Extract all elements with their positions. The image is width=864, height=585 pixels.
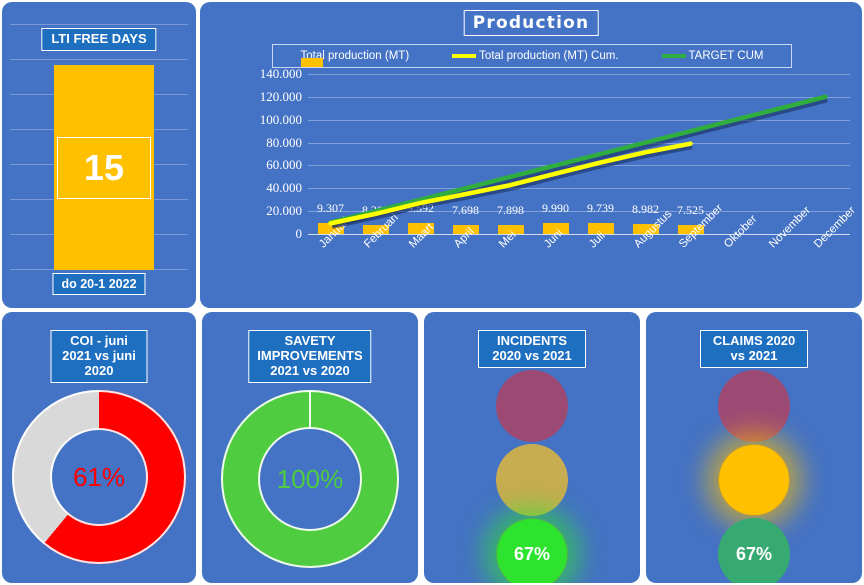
lti-value-box: 15 [57,137,151,199]
lti-date-badge: do 20-1 2022 [52,273,145,295]
legend-swatch-icon [662,54,686,58]
claims-percent: 67% [736,544,772,565]
savety-panel-title: SAVETY IMPROVEMENTS 2021 vs 2020 [248,330,371,383]
target-cum-line [331,97,826,223]
coi-panel-title: COI - juni 2021 vs juni 2020 [51,330,148,383]
claims-panel: CLAIMS 2020 vs 2021 67% [646,312,862,583]
production-title: Production [464,10,599,36]
lti-panel-title: LTI FREE DAYS [41,28,156,51]
lti-value: 15 [84,147,124,189]
gridline [10,24,188,25]
incidents-percent: 67% [514,544,550,565]
legend-swatch-icon [452,54,476,58]
legend-item: Total production (MT) Cum. [452,50,618,62]
y-axis-tick-label: 40.000 [266,180,302,196]
incidents-panel-title: INCIDENTS 2020 vs 2021 [478,330,586,368]
production-legend: Total production (MT)Total production (M… [272,44,792,68]
incidents-panel: INCIDENTS 2020 vs 2021 67% [424,312,640,583]
coi-donut-chart: 61% [12,390,186,564]
savety-donut-chart: 100% [221,390,399,568]
coi-center-label: 61% [12,390,186,564]
legend-label: TARGET CUM [689,50,764,62]
legend-label: Total production (MT) Cum. [479,50,618,62]
savety-improvements-panel: SAVETY IMPROVEMENTS 2021 vs 2020 100% [202,312,418,583]
x-axis-line [308,234,850,235]
y-axis-tick-label: 100.000 [260,112,302,128]
red-light [496,370,568,442]
y-axis-tick-label: 140.000 [260,66,302,82]
y-axis-tick-label: 60.000 [266,157,302,173]
y-axis-tick-label: 20.000 [266,203,302,219]
claims-panel-title: CLAIMS 2020 vs 2021 [700,330,808,368]
production-line-series [308,74,848,234]
production-panel: Production Total production (MT)Total pr… [200,2,862,308]
y-axis-tick-label: 120.000 [260,89,302,105]
legend-item: TARGET CUM [662,50,764,62]
total-production-cum-line [331,144,691,224]
dashboard: LTI FREE DAYS 15 do 20-1 2022 Production… [0,0,864,585]
gridline [10,59,188,60]
y-axis-tick-label: 80.000 [266,135,302,151]
red-light [718,370,790,442]
amber-light [718,444,790,516]
coi-panel: COI - juni 2021 vs juni 2020 61% [2,312,196,583]
amber-light [496,444,568,516]
legend-item: Total production (MT) [301,50,410,62]
legend-swatch-icon [301,58,323,67]
y-axis-tick-label: 0 [296,226,303,242]
donut-start-separator [309,390,311,429]
lti-free-days-panel: LTI FREE DAYS 15 do 20-1 2022 [2,2,196,308]
